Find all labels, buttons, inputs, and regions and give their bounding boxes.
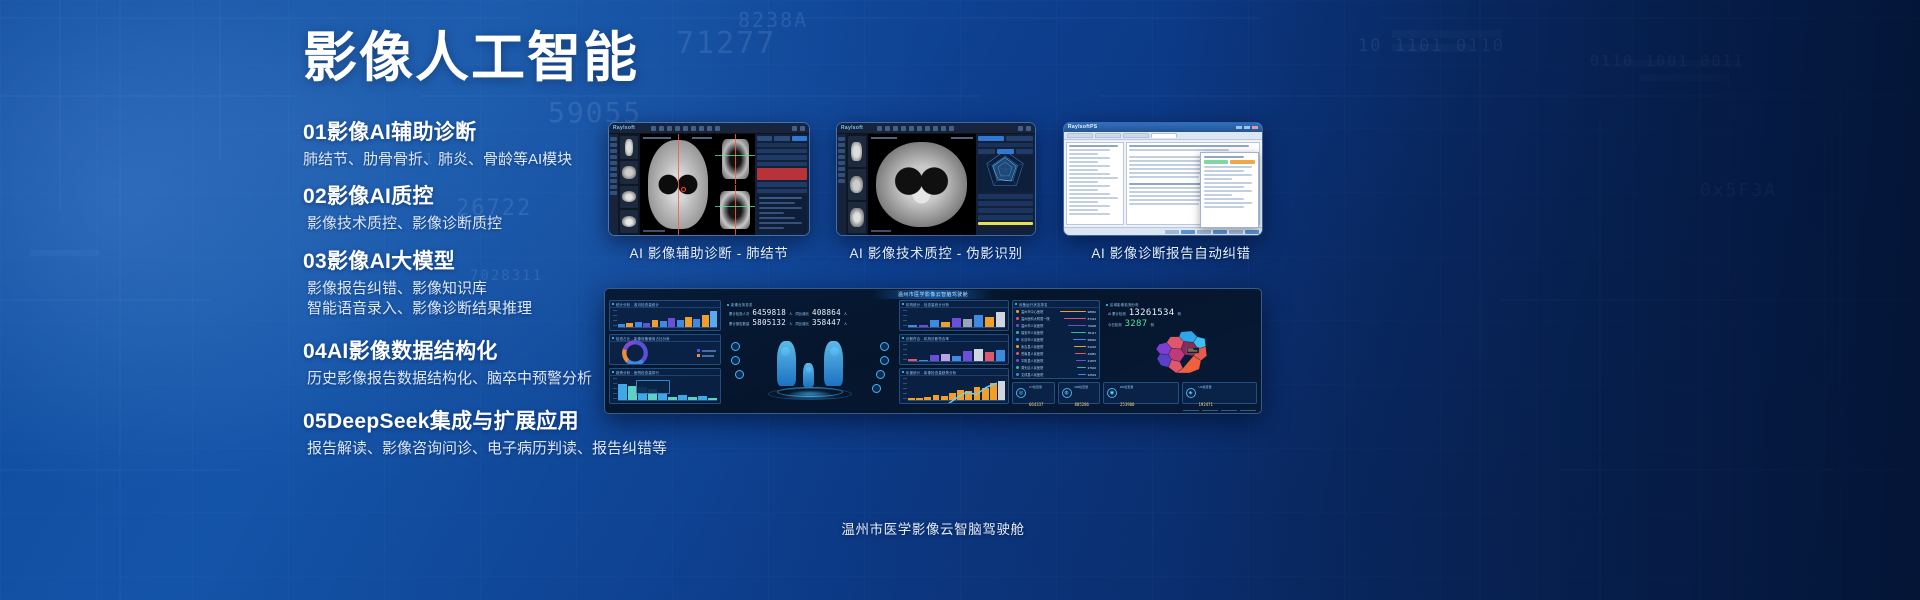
- y-axis: [903, 310, 907, 327]
- report-text-area[interactable]: [757, 195, 807, 233]
- panel-dot-icon: [1106, 304, 1108, 306]
- tile-value: 664337: [1029, 402, 1043, 407]
- kpi-unit: 人: [844, 321, 847, 326]
- panel-title: 趋势分析 - 医院检查量排行: [616, 370, 659, 375]
- findings-panel[interactable]: [755, 134, 809, 235]
- metric-badge-icon[interactable]: [731, 342, 740, 351]
- series-thumbnail-list[interactable]: [618, 134, 640, 235]
- feature-title-02: 02影像AI质控: [303, 180, 502, 210]
- ranking-name: 乐清市人民医院: [1021, 337, 1071, 342]
- feature-title-text-03: 影像AI大模型: [327, 250, 455, 273]
- app-window-report: RaylsoftPS: [1064, 123, 1262, 235]
- toolbar-icon[interactable]: [715, 126, 720, 131]
- settings-icon[interactable]: [1018, 126, 1023, 131]
- x-axis: [618, 400, 717, 401]
- panel-dot-icon: [612, 337, 614, 339]
- tab-item-active[interactable]: [1151, 133, 1177, 138]
- tile-value: 253900: [1120, 402, 1134, 407]
- left-tool-rail[interactable]: [609, 134, 618, 235]
- kpi-label: 同比增长: [795, 311, 809, 316]
- screenshot-report-correction[interactable]: RaylsoftPS: [1063, 122, 1263, 236]
- tile-label: MR检查量: [1075, 385, 1089, 389]
- panel-body: [610, 308, 720, 330]
- findings-row[interactable]: [757, 149, 807, 154]
- dashboard-body: 统计分析 - 各月检查量统计: [605, 300, 1261, 408]
- panel-body: [900, 376, 1008, 403]
- panel-annual-trend[interactable]: 年度统计 - 影像检查量趋势分析: [899, 368, 1009, 404]
- panel-header: 统计分析 - 各月检查量统计: [610, 301, 720, 308]
- settings-icon[interactable]: [792, 126, 797, 131]
- thumbnail-item[interactable]: [620, 161, 638, 184]
- ranking-row[interactable]: 温州市中心医院98652: [1013, 308, 1099, 315]
- crosshair-horizontal: [715, 155, 755, 156]
- series-thumbnail-list[interactable]: [846, 134, 868, 235]
- panel-header: 影像业务总览: [725, 301, 895, 308]
- feature-number-02: 02: [303, 185, 327, 208]
- toolbar-icon[interactable]: [949, 126, 954, 131]
- toolbar-icon[interactable]: [893, 126, 898, 131]
- ghost-number: 0110 1001 0011: [1590, 52, 1744, 70]
- panel-body: 温州市中心医院98652 温州医科大附属一院87413 温州市人民医院76208…: [1013, 308, 1099, 378]
- qc-panel[interactable]: [976, 134, 1035, 235]
- bar-chart: [618, 310, 717, 327]
- metric-badge-icon[interactable]: [880, 356, 889, 365]
- ranking-value: 98652: [1088, 310, 1096, 314]
- viewer-axial-main[interactable]: [640, 134, 715, 235]
- ai-kpi-value: 13261534: [1129, 308, 1175, 318]
- line-overlay: [903, 378, 1005, 404]
- tab-bar[interactable]: [1064, 132, 1262, 140]
- left-tool-rail[interactable]: [837, 134, 846, 235]
- panel-title: 年度统计 - 影像检查量趋势分析: [906, 370, 956, 375]
- status-ok-badge: [1204, 160, 1229, 164]
- panel-dot-icon: [902, 337, 904, 339]
- ranking-value: 51226: [1088, 345, 1096, 349]
- panel-body: 累计检查人次 6459818 人 同比增长 408864 人 累计报告数量 58…: [725, 308, 895, 403]
- nodule-marker[interactable]: [681, 187, 686, 192]
- ranking-name: 温州医科大附属一院: [1021, 316, 1062, 321]
- footer-button[interactable]: [1213, 230, 1227, 234]
- region-map[interactable]: [1108, 330, 1252, 374]
- viewer-sagittal[interactable]: [715, 185, 755, 235]
- correction-popup-panel[interactable]: [1200, 152, 1259, 228]
- mr-scanner-icon: ◍: [1062, 388, 1072, 398]
- panel-header: 检查占比 - 影像设备使用占比分析: [610, 335, 720, 342]
- minimize-icon[interactable]: [1236, 126, 1242, 129]
- thumbnail-item[interactable]: [848, 202, 866, 233]
- footer-button[interactable]: [1245, 230, 1259, 234]
- panel-dot-icon: [1015, 303, 1017, 305]
- kpi-value: 358447: [812, 318, 841, 327]
- screenshot-ai-diagnosis[interactable]: Raylsoft: [608, 122, 810, 236]
- feature-title-01: 01影像AI辅助诊断: [303, 116, 572, 146]
- panel-title: 设备运行状态排名: [1019, 302, 1048, 307]
- dashboard-column-center: 影像业务总览 累计检查人次 6459818 人 同比增长 408864 人 累计…: [724, 300, 896, 404]
- toolbar-icon[interactable]: [941, 126, 946, 131]
- panel-dot-icon: [902, 303, 904, 305]
- panel-header: 区域影像检测分布: [1104, 301, 1256, 308]
- screenshot-ai-qc[interactable]: Raylsoft: [836, 122, 1036, 236]
- ranking-name: 温州市中心医院: [1021, 309, 1058, 314]
- toolbar-icon[interactable]: [683, 126, 688, 131]
- filter-bar[interactable]: [757, 143, 807, 147]
- kpi-label: 累计报告数量: [729, 321, 749, 326]
- panel-body: [900, 342, 1008, 364]
- kpi-label: 累计检查人次: [729, 311, 749, 316]
- kpi-unit: 人: [844, 311, 847, 316]
- kpi-value: 408864: [812, 308, 841, 317]
- app-window-qc: Raylsoft: [837, 123, 1035, 235]
- toolbar-icon[interactable]: [885, 126, 890, 131]
- panel-kpi-overview[interactable]: 影像业务总览 累计检查人次 6459818 人 同比增长 408864 人 累计…: [724, 300, 896, 404]
- thumbnail-item[interactable]: [620, 186, 638, 209]
- overlay-text: [871, 137, 897, 139]
- panel-header: 机构统计 - 检查量统计分析: [900, 301, 1008, 308]
- kpi-tile[interactable]: ◈ US检查量192471: [1182, 382, 1258, 404]
- ranking-row[interactable]: 温州医科大附属一院87413: [1013, 315, 1099, 322]
- dashboard-column-mid-right: 机构统计 - 检查量统计分析 诊断符合 - 机: [899, 300, 1009, 404]
- metric-badge-icon[interactable]: [872, 384, 881, 393]
- x-axis: [618, 327, 717, 328]
- ai-kpi-label: AI 累计检测: [1108, 311, 1126, 316]
- panel-header: 设备运行状态排名: [1013, 301, 1099, 308]
- app-brand-label: RaylsoftPS: [1068, 124, 1097, 130]
- thumbnail-item[interactable]: [620, 210, 638, 233]
- app-toolbar: Raylsoft: [609, 123, 809, 134]
- radar-chart-svg: [982, 148, 1028, 188]
- panel-tab[interactable]: [757, 136, 772, 141]
- panel-title: 检查占比 - 影像设备使用占比分析: [616, 336, 670, 341]
- panel-tab[interactable]: [774, 136, 789, 141]
- toolbar-icon[interactable]: [925, 126, 930, 131]
- tile-row-right: ◉ DR检查量253900 ◈ US检查量192471: [1103, 382, 1257, 404]
- qc-result-row[interactable]: [978, 215, 1033, 220]
- dashboard-column-map: 区域影像检测分布 AI 累计检测 13261534 例 今日检测 3287 例: [1103, 300, 1257, 404]
- us-scanner-icon: ◈: [1186, 388, 1196, 398]
- app-window-diagnosis: Raylsoft: [609, 123, 809, 235]
- close-icon[interactable]: [800, 126, 805, 131]
- tile-label: DR检查量: [1120, 385, 1133, 389]
- ranking-row[interactable]: 平阳县人民医院41875: [1013, 357, 1099, 364]
- caption-ai-diagnosis: AI 影像辅助诊断 - 肺结节: [608, 242, 810, 262]
- qc-subtitle: [978, 143, 1033, 147]
- panel-title: 统计分析 - 各月检查量统计: [616, 302, 659, 307]
- metric-badge-icon[interactable]: [731, 356, 740, 365]
- feature-sub-03-line1: 影像报告纠错、影像知识库: [303, 279, 532, 299]
- kpi-unit: 人: [789, 311, 792, 316]
- findings-row[interactable]: [757, 189, 807, 194]
- metric-badge-icon[interactable]: [735, 370, 744, 379]
- footer-button[interactable]: [1197, 230, 1211, 234]
- overlay-text: [871, 230, 891, 232]
- footer-button[interactable]: [1165, 230, 1179, 234]
- panel-title: 机构统计 - 检查量统计分析: [906, 302, 949, 307]
- toolbar-icon[interactable]: [877, 126, 882, 131]
- qc-result-row-highlight[interactable]: [978, 222, 1033, 225]
- findings-row[interactable]: [757, 182, 807, 187]
- ghost-number: 0x5F3A: [1700, 180, 1777, 201]
- toolbar-icon[interactable]: [691, 126, 696, 131]
- y-axis: [613, 310, 617, 327]
- kpi-value: 5805132: [752, 318, 786, 327]
- close-icon[interactable]: [1252, 126, 1258, 129]
- background-right-shade: [1160, 0, 1920, 600]
- hologram-family-graphic: [768, 327, 852, 399]
- toolbar-icon[interactable]: [917, 126, 922, 131]
- toolbar-icon[interactable]: [699, 126, 704, 131]
- feature-sub-04: 历史影像报告数据结构化、脑卒中预警分析: [303, 369, 592, 389]
- tab-item[interactable]: [1067, 133, 1093, 138]
- chart-tooltip: [636, 380, 670, 394]
- ranking-row[interactable]: 温州市人民医院76208: [1013, 322, 1099, 329]
- thumbnail-item[interactable]: [620, 136, 638, 159]
- ranking-value: 32519: [1088, 373, 1096, 377]
- findings-row[interactable]: [757, 155, 807, 160]
- action-bar[interactable]: [1064, 227, 1262, 235]
- app-toolbar: Raylsoft: [837, 123, 1035, 134]
- panel-title: 区域影像检测分布: [1110, 302, 1139, 307]
- findings-row-alert[interactable]: [757, 168, 807, 180]
- feature-sub-05: 报告解读、影像咨询问诊、电子病历判读、报告纠错等: [303, 439, 667, 459]
- qc-tab[interactable]: [1006, 136, 1033, 141]
- app-body: [837, 134, 1035, 235]
- feature-title-03: 03影像AI大模型: [303, 245, 532, 275]
- feature-title-04: 04AI影像数据结构化: [303, 335, 592, 365]
- donut-chart: [622, 340, 648, 365]
- feature-item-03: 03影像AI大模型 影像报告纠错、影像知识库 智能语音录入、影像诊断结果推理: [303, 245, 532, 320]
- tile-label: CT检查量: [1029, 385, 1042, 389]
- ai-kpi-unit: 例: [1177, 311, 1180, 316]
- panel-title: 诊断符合 - 机构诊断符合率: [906, 336, 949, 341]
- copy-column: 影像人工智能 01影像AI辅助诊断 肺结节、肋骨骨折、肺炎、骨龄等AI模块 02…: [303, 30, 703, 87]
- panel-region-distribution[interactable]: 区域影像检测分布 AI 累计检测 13261534 例 今日检测 3287 例: [1103, 300, 1257, 379]
- feature-title-text-04: AI影像数据结构化: [327, 340, 498, 363]
- ranking-name: 文成县人民医院: [1021, 372, 1076, 377]
- ranking-name: 苍南县人民医院: [1021, 351, 1073, 356]
- dashboard-column-left: 统计分析 - 各月检查量统计: [609, 300, 721, 404]
- footer-button[interactable]: [1181, 230, 1195, 234]
- panel-header: 年度统计 - 影像检查量趋势分析: [900, 369, 1008, 376]
- close-icon[interactable]: [1026, 126, 1031, 131]
- ranking-name: 温州市人民医院: [1021, 323, 1066, 328]
- caption-dashboard: 温州市医学影像云智脑驾驶舱: [604, 518, 1262, 538]
- hologram-ring: [768, 388, 852, 400]
- ranking-row[interactable]: 永嘉县人民医院51226: [1013, 343, 1099, 350]
- panel-device-share[interactable]: 检查占比 - 影像设备使用占比分析: [609, 334, 721, 365]
- panel-title: 影像业务总览: [731, 302, 753, 307]
- panel-dot-icon: [902, 371, 904, 373]
- app-brand-label: Raylsoft: [613, 125, 635, 131]
- dashboard-header: 温州市医学影像云智脑驾驶舱: [605, 289, 1261, 300]
- x-axis: [908, 361, 1005, 362]
- feature-number-03: 03: [303, 250, 327, 273]
- feature-sub-02: 影像技术质控、影像诊断质控: [303, 214, 502, 234]
- ranking-value: 76208: [1088, 324, 1096, 328]
- tile-row-left: ◎ CT检查量664337 ◍ MR检查量805286: [1012, 382, 1100, 404]
- qc-radar-chart: [978, 156, 1033, 192]
- caption-report-correction: AI 影像诊断报告自动纠错: [1063, 242, 1279, 262]
- tab-item[interactable]: [1095, 133, 1121, 138]
- app-titlebar: RaylsoftPS: [1064, 123, 1262, 132]
- bar-chart: [908, 310, 1005, 327]
- status-warn-badge: [1230, 160, 1255, 164]
- metric-badge-icon[interactable]: [876, 370, 885, 379]
- y-axis: [903, 344, 907, 361]
- qc-result-row[interactable]: [978, 194, 1033, 199]
- tile-value: 805286: [1075, 402, 1089, 407]
- qc-result-row[interactable]: [978, 201, 1033, 206]
- app-body: [609, 134, 809, 235]
- ranking-row[interactable]: 乐清市人民医院58940: [1013, 336, 1099, 343]
- ranking-name: 平阳县人民医院: [1021, 358, 1074, 363]
- feature-title-text-01: 影像AI辅助诊断: [327, 121, 476, 144]
- kpi-tile[interactable]: ◎ CT检查量664337: [1012, 382, 1055, 404]
- toolbar-icon[interactable]: [651, 126, 656, 131]
- toolbar-icon[interactable]: [933, 126, 938, 131]
- panel-body: [610, 342, 720, 364]
- qc-result-row[interactable]: [978, 208, 1033, 213]
- panel-dot-icon: [727, 304, 729, 306]
- panel-body: AI 累计检测 13261534 例 今日检测 3287 例: [1104, 308, 1256, 378]
- toolbar-icon[interactable]: [909, 126, 914, 131]
- panel-body: [610, 376, 720, 403]
- overlay-text: [951, 137, 973, 139]
- crosshair-horizontal: [715, 206, 755, 207]
- x-axis: [908, 327, 1005, 328]
- thumbnail-item[interactable]: [848, 136, 866, 167]
- feature-sub-01: 肺结节、肋骨骨折、肺炎、骨龄等AI模块: [303, 150, 572, 170]
- feature-number-05: 05: [303, 410, 327, 433]
- ranking-value: 87413: [1088, 317, 1096, 321]
- ct-scanner-icon: ◎: [1016, 388, 1026, 398]
- panel-hospital-ranking[interactable]: 趋势分析 - 医院检查量排行: [609, 368, 721, 404]
- panel-body: [900, 308, 1008, 330]
- ranking-name: 瑞安市人民医院: [1021, 330, 1069, 335]
- maximize-icon[interactable]: [1244, 126, 1250, 129]
- toolbar-icon[interactable]: [675, 126, 680, 131]
- dashboard-column-ranking: 设备运行状态排名 温州市中心医院98652 温州医科大附属一院87413 温州市…: [1012, 300, 1100, 404]
- dashboard-title: 温州市医学影像云智脑驾驶舱: [872, 290, 994, 299]
- tile-label: US检查量: [1199, 385, 1212, 389]
- ranking-row[interactable]: 苍南县人民医院46081: [1013, 350, 1099, 357]
- panel-institution-stats[interactable]: 机构统计 - 检查量统计分析: [899, 300, 1009, 331]
- viewer-coronal[interactable]: [715, 134, 755, 184]
- feature-item-04: 04AI影像数据结构化 历史影像报告数据结构化、脑卒中预警分析: [303, 335, 592, 389]
- toolbar-icon[interactable]: [667, 126, 672, 131]
- thumbnail-item[interactable]: [848, 169, 866, 200]
- ghost-number: 8238A: [738, 8, 808, 32]
- dashboard-footer: [605, 408, 1261, 413]
- panel-diagnosis-accuracy[interactable]: 诊断符合 - 机构诊断符合率: [899, 334, 1009, 365]
- ranking-value: 65117: [1088, 331, 1096, 335]
- app-brand-label: Raylsoft: [841, 125, 863, 131]
- overlay-text: [692, 137, 712, 139]
- kpi-tile[interactable]: ◉ DR检查量253900: [1103, 382, 1179, 404]
- ranking-row[interactable]: 文成县人民医院32519: [1013, 371, 1099, 378]
- page-title: 影像人工智能: [303, 30, 703, 87]
- feature-item-01: 01影像AI辅助诊断 肺结节、肋骨骨折、肺炎、骨龄等AI模块: [303, 116, 572, 170]
- ct-image-chest: [876, 142, 967, 227]
- ranking-value: 41875: [1088, 359, 1096, 363]
- ai-kpi-unit: 例: [1150, 322, 1153, 327]
- ranking-value: 58940: [1088, 338, 1096, 342]
- crosshair-vertical: [735, 134, 736, 184]
- kpi-label: 同比增长: [795, 321, 809, 326]
- feature-item-02: 02影像AI质控 影像技术质控、影像诊断质控: [303, 180, 502, 234]
- caption-ai-qc: AI 影像技术质控 - 伪影识别: [836, 242, 1036, 262]
- ai-kpi-label: 今日检测: [1108, 322, 1122, 327]
- dr-scanner-icon: ◉: [1107, 388, 1117, 398]
- ranking-row[interactable]: 瑞安市人民医院65117: [1013, 329, 1099, 336]
- panel-dot-icon: [612, 371, 614, 373]
- overlay-text: [643, 137, 671, 139]
- ranking-name: 洞头区人民医院: [1021, 365, 1075, 370]
- toolbar-icon[interactable]: [901, 126, 906, 131]
- feature-title-text-05: DeepSeek集成与扩展应用: [327, 410, 579, 433]
- kpi-unit: 人: [789, 321, 792, 326]
- region-map-svg[interactable]: [1108, 330, 1252, 374]
- ranking-value: 46081: [1088, 352, 1096, 356]
- panel-dot-icon: [612, 303, 614, 305]
- overlay-text: [643, 230, 665, 232]
- ranking-value: 37640: [1088, 366, 1096, 370]
- metric-badge-icon[interactable]: [880, 342, 889, 351]
- panel-device-ranking[interactable]: 设备运行状态排名 温州市中心医院98652 温州医科大附属一院87413 温州市…: [1012, 300, 1100, 379]
- tile-value: 192471: [1199, 402, 1213, 407]
- banner-root: 8238A 71277 59055 26722 10 1101 0110 011…: [0, 0, 1920, 600]
- ranking-name: 永嘉县人民医院: [1021, 344, 1072, 349]
- panel-header: 趋势分析 - 医院检查量排行: [610, 369, 720, 376]
- feature-sub-03-line2: 智能语音录入、影像诊断结果推理: [303, 299, 532, 319]
- panel-tab-active[interactable]: [792, 136, 807, 141]
- report-tree-panel[interactable]: [1066, 142, 1124, 225]
- ghost-number: 10 1101 0110: [1358, 36, 1505, 56]
- feature-number-01: 01: [303, 121, 327, 144]
- feature-number-04: 04: [303, 340, 327, 363]
- crosshair-vertical: [735, 185, 736, 235]
- qc-tab-active[interactable]: [978, 136, 1005, 141]
- toolbar-icon[interactable]: [707, 126, 712, 131]
- bar-chart: [908, 344, 1005, 361]
- y-axis: [613, 378, 617, 400]
- panel-monthly-volume[interactable]: 统计分析 - 各月检查量统计: [609, 300, 721, 331]
- viewer-axial-chest[interactable]: [868, 134, 976, 235]
- panel-header: 诊断符合 - 机构诊断符合率: [900, 335, 1008, 342]
- footer-button[interactable]: [1229, 230, 1243, 234]
- ai-kpi-value: 3287: [1125, 319, 1148, 329]
- viewer-mpr-stack[interactable]: [715, 134, 755, 235]
- map-tooltip: [1187, 347, 1199, 353]
- toolbar-icon[interactable]: [659, 126, 664, 131]
- feature-title-text-02: 影像AI质控: [327, 185, 434, 208]
- tab-item[interactable]: [1123, 133, 1149, 138]
- dashboard-screenshot[interactable]: 温州市医学影像云智脑驾驶舱 统计分析 - 各月检查量统计: [604, 288, 1262, 414]
- crosshair-vertical: [678, 134, 679, 235]
- ranking-row[interactable]: 洞头区人民医院37640: [1013, 364, 1099, 371]
- kpi-value: 6459818: [752, 308, 786, 317]
- findings-row[interactable]: [757, 162, 807, 167]
- kpi-tile[interactable]: ◍ MR检查量805286: [1058, 382, 1101, 404]
